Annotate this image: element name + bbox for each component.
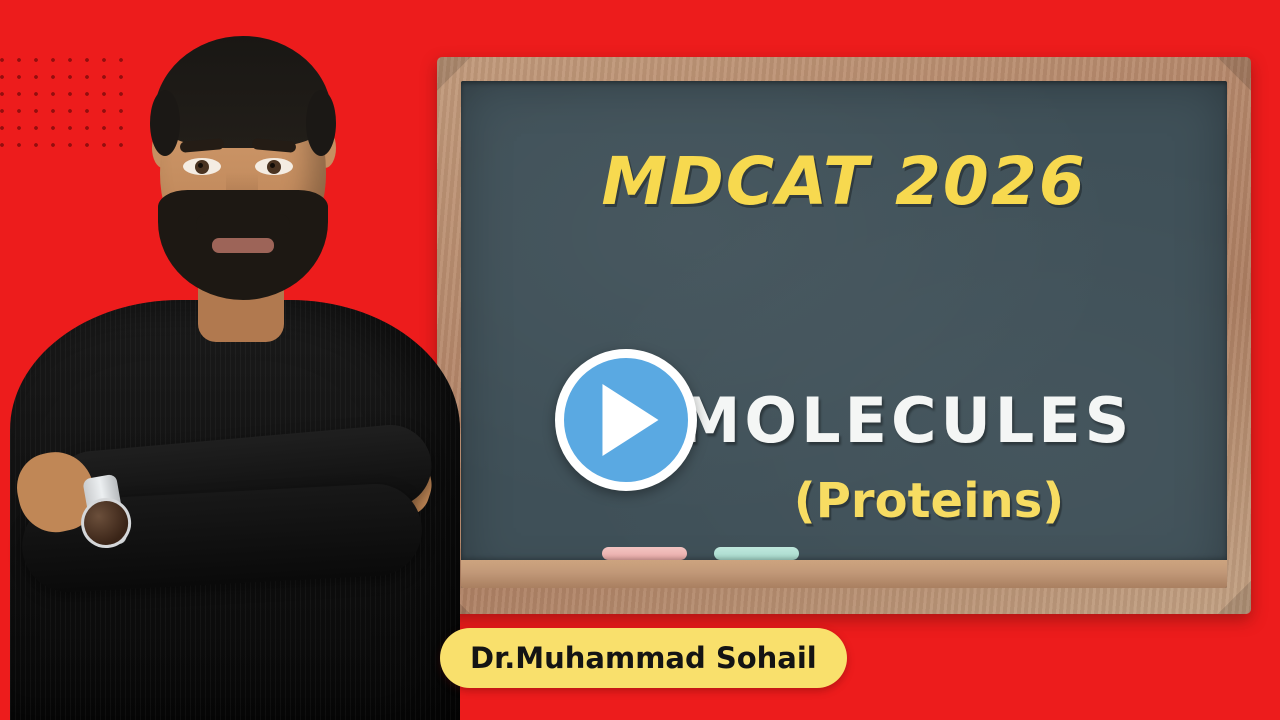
presenter-hair bbox=[154, 36, 332, 148]
presenter-moustache bbox=[196, 214, 290, 234]
play-button[interactable] bbox=[555, 349, 697, 491]
play-icon bbox=[602, 384, 658, 456]
subject-subtitle: (Proteins) bbox=[631, 473, 1227, 529]
chalkboard-frame: MDCAT 2026 MOLECULES (Proteins) bbox=[437, 57, 1251, 614]
presenter-eye-right bbox=[255, 158, 293, 175]
presenter-name-text: Dr.Muhammad Sohail bbox=[470, 641, 817, 675]
thumbnail-canvas: MDCAT 2026 MOLECULES (Proteins) bbox=[0, 0, 1280, 720]
presenter-photo bbox=[0, 0, 470, 720]
headline-mdcat-2026: MDCAT 2026 bbox=[461, 143, 1227, 220]
presenter-pupil-left bbox=[195, 160, 209, 174]
presenter-eye-left bbox=[183, 158, 221, 175]
presenter-mouth bbox=[212, 238, 274, 253]
chalk-stick-mint bbox=[714, 547, 799, 560]
chalkboard-surface: MDCAT 2026 MOLECULES (Proteins) bbox=[461, 81, 1227, 588]
chalk-stick-pink bbox=[602, 547, 687, 560]
presenter-pupil-right bbox=[267, 160, 281, 174]
presenter-name-badge: Dr.Muhammad Sohail bbox=[440, 628, 847, 688]
subject-title: MOLECULES bbox=[679, 384, 1134, 457]
chalk-tray bbox=[461, 560, 1227, 588]
subject-line: MOLECULES bbox=[461, 349, 1227, 491]
